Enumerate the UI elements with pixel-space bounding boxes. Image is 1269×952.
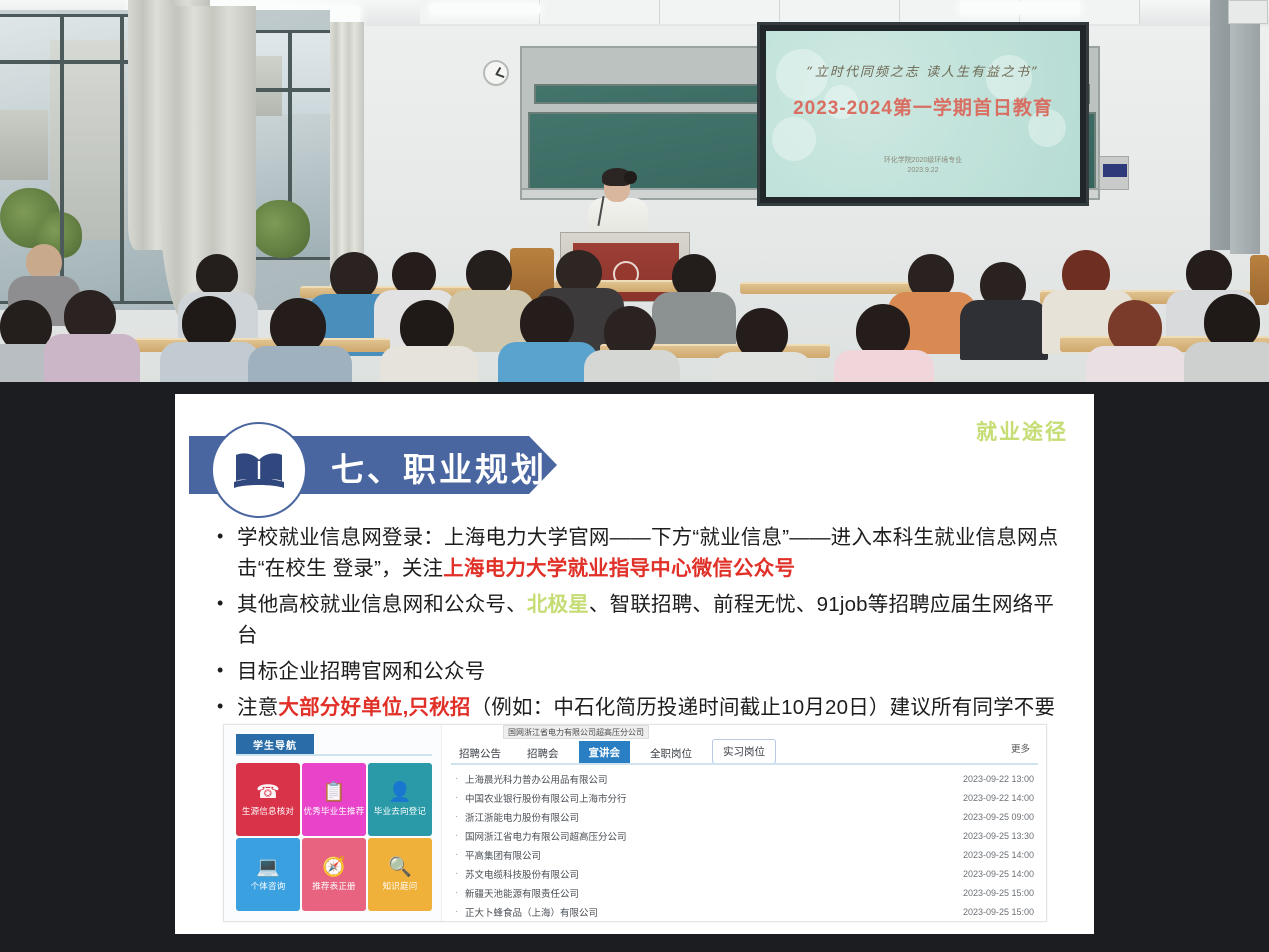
nav-tile-label: 推荐表正册 <box>312 880 356 892</box>
outside-building <box>0 110 48 180</box>
job-timestamp: 2023-09-25 15:00 <box>963 888 1034 898</box>
list-bullet-icon: · <box>455 887 465 898</box>
tab-zhaopin-gonggao[interactable]: 招聘公告 <box>453 743 507 764</box>
nav-tile-label: 毕业去向登记 <box>374 805 426 817</box>
outside-tree <box>250 200 310 258</box>
job-timestamp: 2023-09-22 14:00 <box>963 793 1034 803</box>
search-grid-icon: 🔍 <box>388 858 412 877</box>
bullet-item: 其他高校就业信息网和公众号、北极星、智联招聘、前程无忧、91job等招聘应届生网… <box>215 589 1060 651</box>
job-timestamp: 2023-09-25 13:30 <box>963 831 1034 841</box>
projected-subtitle-1: 环化学院2020级环境专业 <box>766 155 1080 165</box>
air-conditioner <box>1228 0 1268 24</box>
classroom-photo: “立时代同频之志 读人生有益之书” 2023-2024第一学期首日教育 环化学院… <box>0 0 1269 382</box>
compass-icon: 🧭 <box>322 858 346 877</box>
nav-tile-geti-zixun[interactable]: 💻 个体咨询 <box>236 838 300 911</box>
nav-tile-biye-quxiang-dengji[interactable]: 👤 毕业去向登记 <box>368 763 432 836</box>
window-mullion <box>120 14 124 304</box>
job-company-name[interactable]: 国网浙江省电力有限公司超高压分公司 <box>465 829 963 843</box>
list-item[interactable]: · 国网浙江省电力有限公司超高压分公司 2023-09-25 13:30 <box>455 826 1034 845</box>
ceiling-tile <box>660 0 780 24</box>
classroom-door-leaf <box>1230 14 1260 254</box>
nav-tile-tuijianbiao-zhengce[interactable]: 🧭 推荐表正册 <box>302 838 366 911</box>
job-company-name[interactable]: 新疆天池能源有限责任公司 <box>465 886 963 900</box>
list-item[interactable]: · 上海晨光科力普办公用品有限公司 2023-09-22 13:00 <box>455 769 1034 788</box>
job-company-name[interactable]: 正大卜蜂食品（上海）有限公司 <box>465 905 963 919</box>
list-bullet-icon: · <box>455 868 465 879</box>
nav-tile-label: 优秀毕业生推荐 <box>304 805 365 817</box>
screenshot-root: “立时代同频之志 读人生有益之书” 2023-2024第一学期首日教育 环化学院… <box>0 0 1269 952</box>
ceiling-tile <box>540 0 660 24</box>
job-timestamp: 2023-09-25 15:00 <box>963 907 1034 917</box>
bullet-highlight: 北极星 <box>527 593 589 616</box>
projector-screen-frame: “立时代同频之志 读人生有益之书” 2023-2024第一学期首日教育 环化学院… <box>757 22 1089 206</box>
nav-tile-label: 知识庭问 <box>383 880 418 892</box>
list-bullet-icon: · <box>455 906 465 917</box>
job-listing-panel: 国网浙江省电力有限公司超高压分公司 招聘公告 招聘会 宣讲会 全职岗位 实习岗位… <box>443 725 1046 921</box>
ceiling-lamp <box>960 2 1080 14</box>
projected-subtitle-2: 2023.9.22 <box>766 167 1080 174</box>
nav-tile-zhishi-tingwen[interactable]: 🔍 知识庭问 <box>368 838 432 911</box>
nav-tile-shengyuan-xinxi-hedui[interactable]: ☎ 生源信息核对 <box>236 763 300 836</box>
slide-header-banner: 七、职业规划 <box>189 436 569 494</box>
job-timestamp: 2023-09-25 14:00 <box>963 869 1034 879</box>
clipboard-check-icon: 📋 <box>322 783 346 802</box>
presentation-slide: 就业途径 七、职业规划 学校就业信息网登录：上海电力大学官网——下方“就业信 <box>175 394 1094 934</box>
bullet-text: 目标企业招聘官网和公众号 <box>237 660 485 683</box>
list-item[interactable]: · 浙江浙能电力股份有限公司 2023-09-25 09:00 <box>455 807 1034 826</box>
tabs-divider <box>451 763 1038 765</box>
phone-user-icon: ☎ <box>256 783 280 802</box>
bullet-highlight: 大部分好单位,只秋招 <box>278 696 470 719</box>
bullet-item: 目标企业招聘官网和公众号 <box>215 656 1060 687</box>
job-timestamp: 2023-09-25 09:00 <box>963 812 1034 822</box>
list-item[interactable]: · 中国农业银行股份有限公司上海市分行 2023-09-22 14:00 <box>455 788 1034 807</box>
tab-shixi-gangwei[interactable]: 实习岗位 <box>712 739 776 764</box>
job-company-name[interactable]: 中国农业银行股份有限公司上海市分行 <box>465 791 963 805</box>
bullet-highlight: 上海电力大学就业指导中心微信公众号 <box>443 557 795 580</box>
monitor-chat-icon: 💻 <box>256 858 280 877</box>
open-book-icon <box>211 422 307 518</box>
job-company-name[interactable]: 苏文电缆科技股份有限公司 <box>465 867 963 881</box>
list-bullet-icon: · <box>455 849 465 860</box>
more-link[interactable]: 更多 <box>1011 741 1030 755</box>
list-bullet-icon: · <box>455 773 465 784</box>
job-company-name[interactable]: 浙江浙能电力股份有限公司 <box>465 810 963 824</box>
list-bullet-icon: · <box>455 811 465 822</box>
list-item[interactable]: · 平高集团有限公司 2023-09-25 14:00 <box>455 845 1034 864</box>
bullet-text: 注意 <box>237 696 278 719</box>
tab-xuanjianghui[interactable]: 宣讲会 <box>579 741 631 764</box>
nav-tile-youxiu-biyesheng-tuijian[interactable]: 📋 优秀毕业生推荐 <box>302 763 366 836</box>
bullet-text: 其他高校就业信息网和公众号、 <box>237 593 527 616</box>
list-bullet-icon: · <box>455 792 465 803</box>
list-bullet-icon: · <box>455 830 465 841</box>
slide-stage: 就业途径 七、职业规划 学校就业信息网登录：上海电力大学官网——下方“就业信 <box>0 382 1269 952</box>
job-category-tabs: 招聘公告 招聘会 宣讲会 全职岗位 实习岗位 <box>453 739 776 764</box>
slide-title: 七、职业规划 <box>331 443 547 491</box>
ceiling-lamp <box>430 4 540 14</box>
tab-quanzhi-gangwei[interactable]: 全职岗位 <box>644 743 698 764</box>
projected-title: 2023-2024第一学期首日教育 <box>766 93 1080 120</box>
job-list: · 上海晨光科力普办公用品有限公司 2023-09-22 13:00 · 中国农… <box>455 769 1034 921</box>
projector-screen: “立时代同频之志 读人生有益之书” 2023-2024第一学期首日教育 环化学院… <box>766 31 1080 197</box>
outside-building <box>252 56 282 116</box>
list-item[interactable]: · 苏文电缆科技股份有限公司 2023-09-25 14:00 <box>455 864 1034 883</box>
nav-divider <box>236 754 432 756</box>
window-curtain <box>330 22 364 272</box>
tab-zhaopinhui[interactable]: 招聘会 <box>521 743 565 764</box>
list-item[interactable]: · 新疆天池能源有限责任公司 2023-09-25 15:00 <box>455 883 1034 902</box>
section-tag: 就业途径 <box>976 416 1068 446</box>
nav-tile-label: 个体咨询 <box>251 880 286 892</box>
projected-quote: “立时代同频之志 读人生有益之书” <box>766 61 1080 80</box>
speaker-hair-bun <box>624 171 637 184</box>
company-tooltip: 国网浙江省电力有限公司超高压分公司 <box>503 725 649 739</box>
ceiling-tile <box>780 0 900 24</box>
wall-clock <box>483 60 509 86</box>
job-company-name[interactable]: 平高集团有限公司 <box>465 848 963 862</box>
job-timestamp: 2023-09-22 13:00 <box>963 774 1034 784</box>
id-card-icon: 👤 <box>388 783 412 802</box>
job-company-name[interactable]: 上海晨光科力普办公用品有限公司 <box>465 772 963 786</box>
embedded-website-screenshot: 学生导航 ☎ 生源信息核对 📋 优秀毕业生推荐 👤 毕 <box>223 724 1047 922</box>
wall-control-panel <box>1099 156 1129 190</box>
student-nav-panel: 学生导航 ☎ 生源信息核对 📋 优秀毕业生推荐 👤 毕 <box>224 725 442 922</box>
job-timestamp: 2023-09-25 14:00 <box>963 850 1034 860</box>
nav-tile-label: 生源信息核对 <box>242 805 294 817</box>
list-item[interactable]: · 正大卜蜂食品（上海）有限公司 2023-09-25 15:00 <box>455 902 1034 921</box>
bullet-item: 学校就业信息网登录：上海电力大学官网——下方“就业信息”——进入本科生就业信息网… <box>215 522 1060 584</box>
nav-tile-grid: ☎ 生源信息核对 📋 优秀毕业生推荐 👤 毕业去向登记 💻 <box>236 763 432 911</box>
control-panel-screen <box>1103 164 1127 177</box>
student-nav-title[interactable]: 学生导航 <box>236 734 314 754</box>
